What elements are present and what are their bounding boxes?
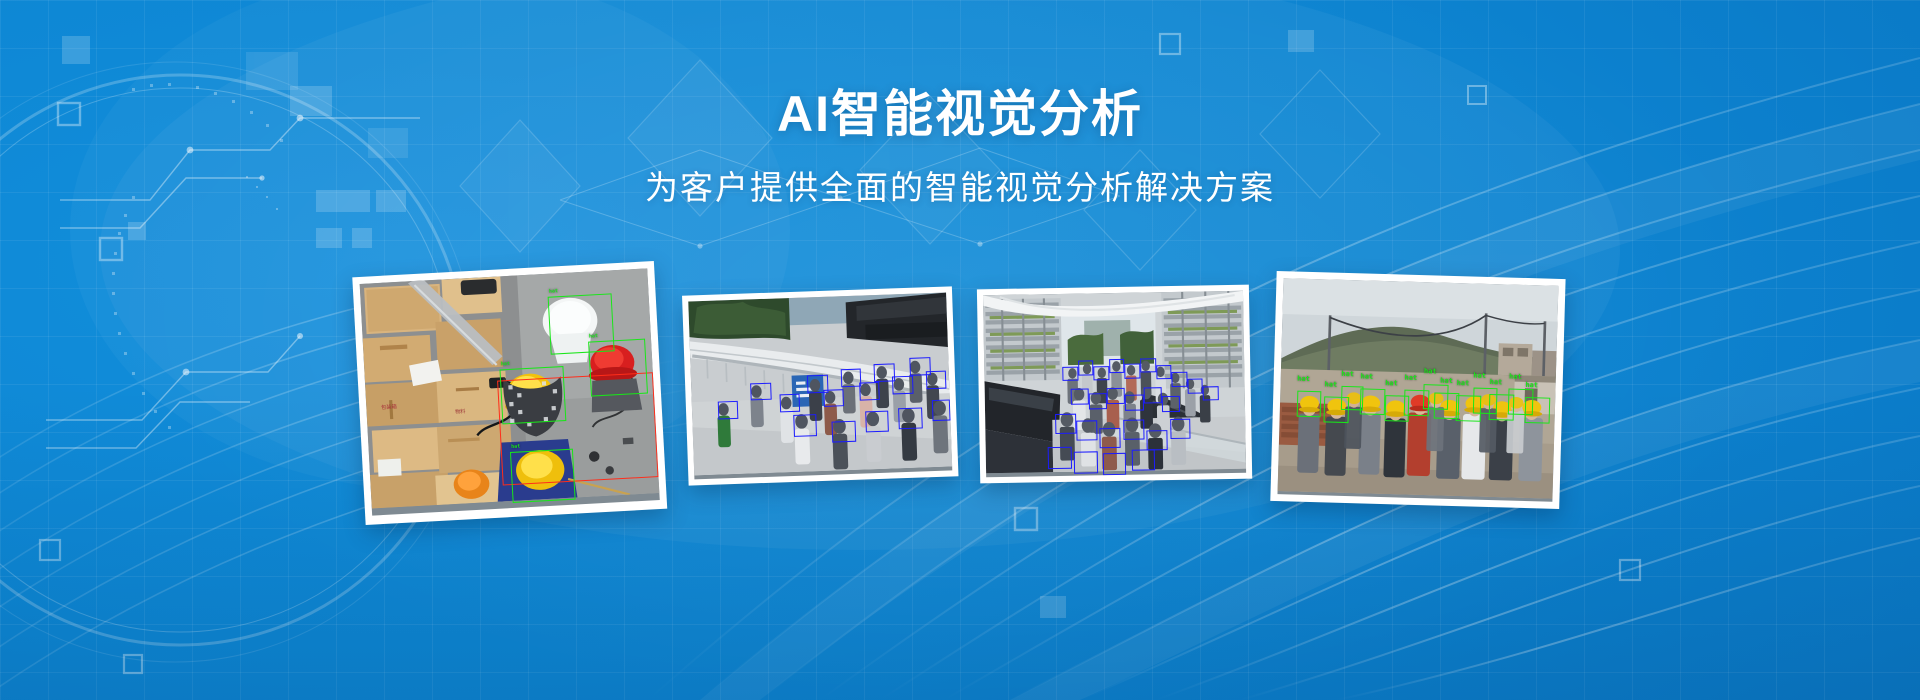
- detection-box: [822, 389, 843, 408]
- detection-box: [1155, 365, 1171, 380]
- detection-box: [1099, 428, 1120, 448]
- detection-box: [1296, 391, 1321, 418]
- detection-label: hat: [1341, 371, 1354, 378]
- ai-vision-banner: AI智能视觉分析 为客户提供全面的智能视觉分析解决方案: [0, 0, 1920, 700]
- detection-label: hat: [588, 334, 597, 339]
- detection-box: [1070, 388, 1088, 405]
- detection-label: hat: [1525, 382, 1538, 389]
- detection-box: [1093, 366, 1109, 381]
- gallery-strip: 包装箱 物料: [0, 255, 1920, 525]
- detection-label: hat: [548, 289, 557, 294]
- photo-outdoor-workers: hat hat hat hat hat hat hat hat hat ha: [1277, 278, 1558, 502]
- detection-box: [1124, 364, 1140, 379]
- detection-box: [1106, 387, 1124, 404]
- detection-label: hat: [1509, 373, 1522, 380]
- detection-label: hat: [1297, 376, 1310, 383]
- detection-box: [858, 382, 879, 401]
- photo-pedestrian-bridge: [688, 293, 952, 480]
- detection-box: [1131, 449, 1155, 471]
- detection-box: [898, 407, 922, 429]
- gallery-item-escalator-crowd-density-detection[interactable]: [976, 285, 1251, 484]
- detection-box: [1146, 430, 1167, 450]
- detection-box: [931, 399, 950, 421]
- detection-label: hat: [500, 362, 509, 367]
- detection-box: [831, 420, 855, 442]
- detection-box: [1076, 421, 1097, 441]
- detection-box: [1102, 453, 1126, 475]
- detection-box: [1171, 372, 1187, 387]
- detection-box: [779, 394, 800, 413]
- detection-label: hat: [1440, 378, 1453, 385]
- detection-box: [1143, 387, 1161, 404]
- detection-label: hat: [1385, 380, 1398, 387]
- photo-escalator-crowd: [982, 291, 1245, 478]
- detection-box: [1169, 419, 1190, 439]
- detection-box: [1161, 396, 1179, 413]
- detection-box: [925, 371, 946, 390]
- detection-label: hat: [1324, 381, 1337, 388]
- banner-headline: AI智能视觉分析 为客户提供全面的智能视觉分析解决方案: [0, 86, 1920, 208]
- gallery-item-outdoor-workers-hardhat-detection[interactable]: hat hat hat hat hat hat hat hat hat ha: [1270, 271, 1565, 509]
- detection-box: [1055, 414, 1076, 434]
- detection-box: [750, 382, 771, 401]
- detection-label: hat: [1456, 380, 1469, 387]
- detection-box: [1088, 393, 1106, 410]
- detection-box: [1074, 452, 1098, 474]
- detection-box: [1048, 447, 1072, 469]
- detection-box: [865, 410, 889, 432]
- detection-box: [717, 401, 738, 420]
- detection-box: [1140, 358, 1156, 373]
- detection-box: [1359, 388, 1384, 415]
- detection-box: [587, 338, 648, 397]
- detection-label: hat: [1423, 369, 1436, 376]
- detection-box: [1062, 366, 1078, 381]
- gallery-item-warehouse-hardhat-detection[interactable]: 包装箱 物料: [352, 261, 667, 525]
- detection-label: hat: [1404, 374, 1417, 381]
- detection-label: hat: [1489, 379, 1502, 386]
- detection-box: [1122, 420, 1143, 440]
- detection-box: [1187, 379, 1203, 394]
- detection-box: [792, 415, 816, 437]
- detection-box: [873, 364, 894, 383]
- detection-box: [1125, 394, 1143, 411]
- detection-box: [1524, 397, 1549, 424]
- detection-box: [892, 376, 913, 395]
- page-title: AI智能视觉分析: [0, 86, 1920, 142]
- detection-label: hat: [511, 445, 520, 450]
- detection-box: [840, 369, 861, 388]
- detection-box: [499, 366, 565, 425]
- gallery-item-pedestrian-bridge-crowd-detection[interactable]: [682, 286, 958, 485]
- detection-box: [1108, 358, 1124, 373]
- detection-box: [1077, 361, 1093, 376]
- photo-warehouse-overhead: 包装箱 物料: [359, 268, 659, 515]
- detection-label: hat: [1473, 372, 1486, 379]
- detection-box: [1202, 386, 1218, 401]
- detection-box: [510, 449, 576, 503]
- page-subtitle: 为客户提供全面的智能视觉分析解决方案: [0, 168, 1920, 208]
- detection-label: hat: [1360, 373, 1373, 380]
